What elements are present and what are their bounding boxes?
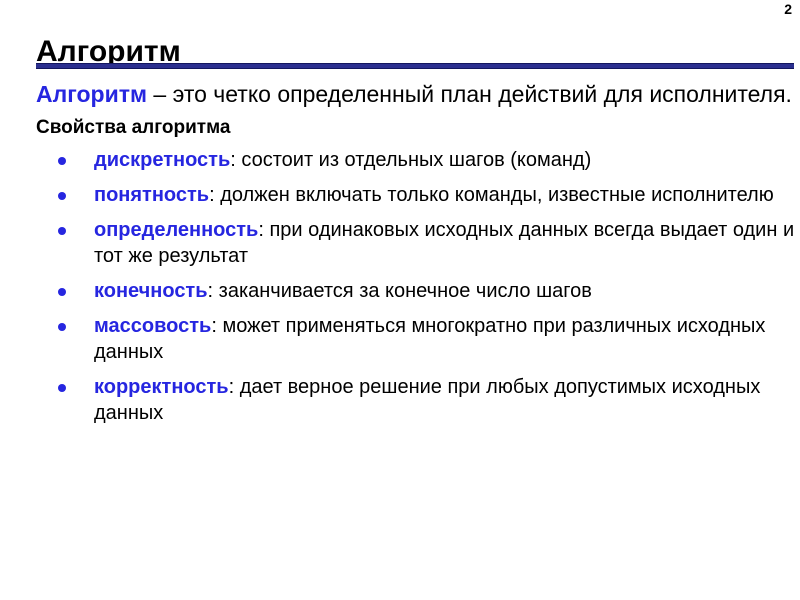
list-item: корректность: дает верное решение при лю…	[36, 374, 796, 426]
page-number: 2	[784, 2, 792, 16]
properties-heading: Свойства алгоритма	[36, 116, 796, 140]
property-name: определенность	[94, 219, 258, 241]
list-item: определенность: при одинаковых исходных …	[36, 217, 796, 269]
property-description: : должен включать только команды, извест…	[209, 184, 774, 206]
list-item: массовость: может применяться многократн…	[36, 313, 796, 365]
properties-list: дискретность: состоит из отдельных шагов…	[36, 147, 796, 426]
list-item: дискретность: состоит из отдельных шагов…	[36, 147, 796, 173]
slide-body: Алгоритм – это четко определенный план д…	[36, 80, 796, 435]
property-name: конечность	[94, 280, 208, 302]
definition-text: – это четко определенный план действий д…	[147, 81, 792, 107]
title-divider	[36, 63, 794, 69]
property-name: корректность	[94, 376, 229, 398]
property-name: понятность	[94, 184, 209, 206]
definition-term: Алгоритм	[36, 81, 147, 107]
property-name: массовость	[94, 315, 211, 337]
list-item: понятность: должен включать только коман…	[36, 182, 796, 208]
definition-paragraph: Алгоритм – это четко определенный план д…	[36, 80, 796, 110]
list-item: конечность: заканчивается за конечное чи…	[36, 278, 796, 304]
property-description: : заканчивается за конечное число шагов	[208, 280, 592, 302]
slide: 2 Алгоритм Алгоритм – это четко определе…	[0, 0, 800, 600]
property-description: : состоит из отдельных шагов (команд)	[230, 149, 591, 171]
property-name: дискретность	[94, 149, 230, 171]
